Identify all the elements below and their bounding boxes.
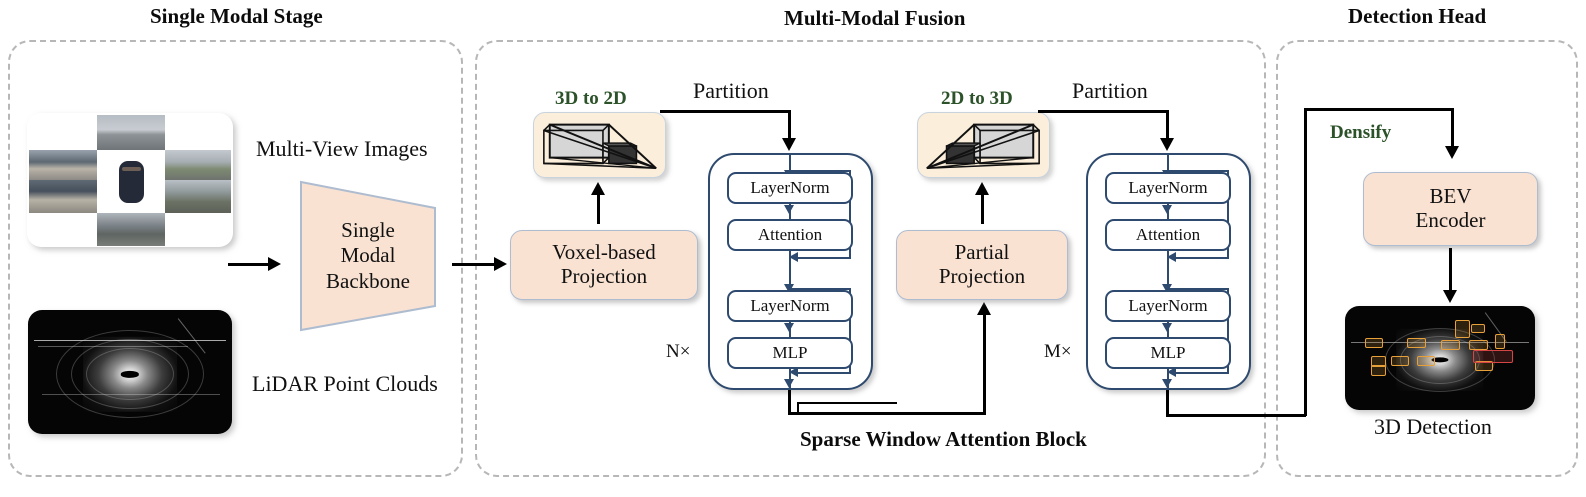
- detection-result-label: 3D Detection: [1374, 414, 1492, 440]
- voxel-projection-line-2: Projection: [561, 265, 647, 289]
- block-left-cell-layernorm-2[interactable]: LayerNorm: [727, 290, 853, 322]
- detection-box-5: [1441, 340, 1460, 350]
- camera-tile-back-right: [165, 180, 231, 213]
- connector-left-block-down: [788, 390, 791, 414]
- connector-up-to-partial-head: [977, 302, 991, 315]
- multi-view-images-label: Multi-View Images: [256, 136, 428, 162]
- connector-right-block-across: [1166, 414, 1306, 417]
- block-right-res1-bottom: [1173, 257, 1229, 259]
- voxel-projection-line-1: Voxel-based: [552, 241, 655, 265]
- tag-2d-to-3d: 2D to 3D: [941, 88, 1013, 110]
- block-right-arrow-ln1-attn: [1162, 205, 1172, 214]
- detection-box-ego-red: [1473, 350, 1513, 363]
- detection-box-11: [1417, 356, 1435, 366]
- arrow-backbone-to-projection-line: [452, 263, 496, 266]
- section-title-detection-head: Detection Head: [1348, 4, 1486, 29]
- single-modal-backbone-label: Single Modal Backbone: [297, 178, 439, 334]
- lidar-point-cloud-card: [28, 310, 232, 434]
- lidar-point-clouds-label: LiDAR Point Clouds: [252, 371, 438, 397]
- backbone-line-2: Modal: [341, 243, 396, 269]
- partition-arrow-left-head: [782, 138, 796, 151]
- block-left-arrow-ln2-mlp: [784, 323, 794, 332]
- frustum-2d-to-3d-icon: [917, 112, 1050, 178]
- camera-tile-back-left: [29, 180, 97, 213]
- camera-tile-front-right: [165, 150, 231, 180]
- block-left-arrow-out: [784, 379, 794, 388]
- partition-arrow-right-head: [1160, 138, 1174, 151]
- arrow-projection-up-line-right: [981, 192, 984, 224]
- caption-bracket-left: [797, 402, 897, 414]
- block-right-arrow-out: [1162, 379, 1172, 388]
- block-left-cell-layernorm-1[interactable]: LayerNorm: [727, 172, 853, 204]
- bev-encoder-line-1: BEV: [1430, 185, 1472, 209]
- partition-line-left-v: [788, 110, 791, 140]
- lidar-band-bottom: [42, 394, 220, 395]
- sparse-window-attention-caption: Sparse Window Attention Block: [800, 427, 1087, 452]
- partition-label-left: Partition: [693, 78, 769, 104]
- block-left-res1-arrow: [789, 252, 798, 262]
- block-left-cell-attention[interactable]: Attention: [727, 219, 853, 251]
- ego-vehicle-icon: [119, 161, 144, 203]
- camera-tile-front: [97, 115, 165, 150]
- block-left-cell-mlp[interactable]: MLP: [727, 337, 853, 369]
- detection-box-4: [1407, 338, 1426, 348]
- densify-label: Densify: [1330, 122, 1391, 144]
- partial-projection-line-2: Projection: [939, 265, 1025, 289]
- bev-encoder-line-2: Encoder: [1416, 209, 1486, 233]
- arrow-to-backbone-head: [268, 257, 281, 271]
- multi-view-images-card: [27, 113, 233, 247]
- detection-box-6: [1469, 340, 1488, 350]
- backbone-line-3: Backbone: [326, 269, 410, 295]
- section-title-single-modal-stage: Single Modal Stage: [150, 4, 323, 29]
- connector-densify-down: [1451, 108, 1454, 148]
- section-title-multi-modal-fusion: Multi-Modal Fusion: [784, 6, 965, 31]
- arrow-bev-to-detection-head: [1443, 290, 1457, 303]
- caption-bracket-right: [1166, 402, 1169, 414]
- block-left-arrow-ln1-attn: [784, 205, 794, 214]
- block-right-res2-bottom: [1173, 372, 1229, 374]
- arrow-projection-up-line-left: [597, 192, 600, 224]
- partition-line-left-h: [660, 110, 790, 113]
- tag-3d-to-2d: 3D to 2D: [555, 88, 627, 110]
- block-left-res1-bottom: [795, 257, 851, 259]
- connector-densify-arrow: [1445, 146, 1459, 159]
- detection-box-1: [1455, 320, 1470, 338]
- lidar-detection-result: [1345, 306, 1535, 410]
- arrow-projection-up-head-right: [975, 182, 989, 195]
- connector-densify-up: [1304, 108, 1307, 416]
- block-right-cell-attention[interactable]: Attention: [1105, 219, 1231, 251]
- block-right-arrow-ln2-mlp: [1162, 323, 1172, 332]
- connector-up-to-partial: [983, 313, 986, 413]
- arrow-projection-up-head-left: [591, 182, 605, 195]
- block-right-cell-mlp[interactable]: MLP: [1105, 337, 1231, 369]
- partition-label-right: Partition: [1072, 78, 1148, 104]
- voxel-based-projection-box[interactable]: Voxel-based Projection: [510, 230, 698, 300]
- arrow-to-backbone-line: [228, 263, 270, 266]
- lidar-band-top2: [38, 346, 188, 347]
- block-right-repeat-count: M×: [1044, 341, 1072, 363]
- block-left-repeat-count: N×: [666, 341, 690, 363]
- detection-box-3: [1365, 338, 1383, 348]
- partition-line-right-v: [1166, 110, 1169, 140]
- block-right-cell-layernorm-1[interactable]: LayerNorm: [1105, 172, 1231, 204]
- detection-box-2: [1471, 324, 1485, 333]
- arrow-bev-to-detection-line: [1449, 248, 1452, 292]
- camera-tile-back: [97, 213, 165, 246]
- connector-densify-across: [1304, 108, 1453, 111]
- block-right-cell-layernorm-2[interactable]: LayerNorm: [1105, 290, 1231, 322]
- diagram-root: Single Modal Stage Multi-Modal Fusion De…: [0, 0, 1586, 497]
- detection-box-9: [1371, 365, 1386, 376]
- camera-tile-front-left: [29, 150, 97, 180]
- block-right-res1-arrow: [1167, 252, 1176, 262]
- frustum-3d-to-2d-icon: [533, 112, 666, 178]
- arrow-backbone-to-projection-head: [494, 257, 507, 271]
- partition-line-right-h: [1038, 110, 1168, 113]
- bev-encoder-box[interactable]: BEV Encoder: [1363, 172, 1538, 246]
- block-left-res2-bottom: [795, 372, 851, 374]
- detection-box-10: [1391, 356, 1409, 366]
- panel-detection-head: [1276, 40, 1578, 477]
- partial-projection-box[interactable]: Partial Projection: [896, 230, 1068, 300]
- partial-projection-line-1: Partial: [955, 241, 1010, 265]
- backbone-line-1: Single: [341, 218, 395, 244]
- detection-box-7: [1495, 334, 1505, 349]
